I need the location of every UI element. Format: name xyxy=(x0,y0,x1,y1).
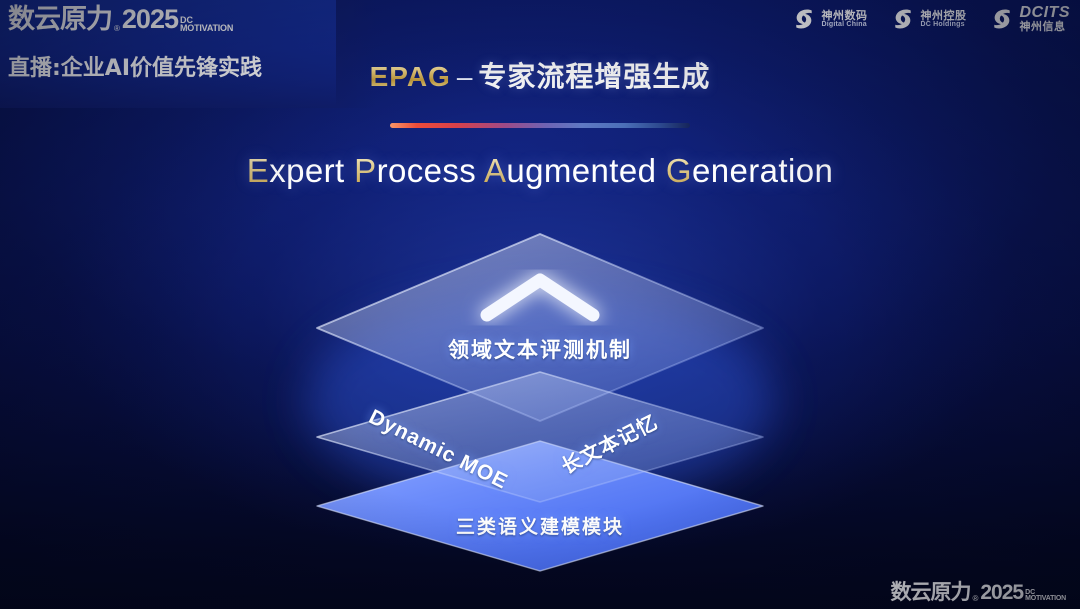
page-title-chinese: 专家流程增强生成 xyxy=(478,60,710,93)
watermark-registered: ® xyxy=(972,595,978,603)
partner-logo-digital-china: 神州数码 Digital China xyxy=(791,6,868,32)
stack-glow xyxy=(305,295,775,505)
partner-label: 神州数码 Digital China xyxy=(822,10,868,28)
brand-logo-registered: ® xyxy=(114,25,120,33)
layer-edge-label-moe: Dynamic MOE xyxy=(365,405,512,494)
layer-middle-surface xyxy=(317,372,763,502)
partner-label: 神州控股 DC Holdings xyxy=(921,10,967,28)
subtitle-word-rest: eneration xyxy=(692,152,833,189)
page-title-dash: – xyxy=(451,61,479,92)
subtitle-initial: A xyxy=(484,152,506,189)
subtitle-word-generation: Generation xyxy=(666,152,833,189)
partner-logo-dc-holdings: 神州控股 DC Holdings xyxy=(890,6,967,32)
page-subtitle: Expert Process Augmented Generation xyxy=(0,152,1080,190)
partner-logo-group: 神州数码 Digital China 神州控股 DC Holdings DCIT… xyxy=(791,5,1071,33)
subtitle-word-augmented: Augmented xyxy=(484,152,656,189)
partner-name-en: Digital China xyxy=(822,21,868,28)
layer-top xyxy=(317,234,763,421)
subtitle-word-rest: xpert xyxy=(269,152,344,189)
watermark-dc-motivation: DC MOTIVATION xyxy=(1025,590,1066,603)
partner-name-en: DCITS xyxy=(1020,5,1071,21)
layer-bottom xyxy=(317,441,763,571)
title-divider xyxy=(390,123,690,128)
subtitle-word-rest: ugmented xyxy=(506,152,656,189)
brand-logo-year: 2025 xyxy=(122,6,178,33)
brand-logo-dc-motivation: DC MOTIVATION xyxy=(180,16,233,33)
watermark-logo-cn: 数云原力 xyxy=(890,582,970,603)
layer-edge-label-memory: 长文本记忆 xyxy=(555,406,662,480)
subtitle-initial: E xyxy=(247,152,269,189)
layer-bottom-label: 三类语义建模模块 xyxy=(0,512,1080,539)
layer-bottom-surface xyxy=(317,441,763,571)
partner-name-cn: 神州信息 xyxy=(1020,21,1071,32)
subtitle-word-rest: rocess xyxy=(377,152,477,189)
partner-logo-dcits: DCITS 神州信息 xyxy=(989,5,1071,33)
swirl-icon xyxy=(890,6,916,32)
subtitle-initial: G xyxy=(666,152,692,189)
layer-top-surface xyxy=(317,234,763,421)
subtitle-initial: P xyxy=(354,152,376,189)
subtitle-word-expert: Expert xyxy=(247,152,345,189)
layer-bottom-edge xyxy=(317,441,763,571)
partner-name-en: DC Holdings xyxy=(921,21,967,28)
slide-canvas: 数云原力 ® 2025 DC MOTIVATION 直播:企业AI价值先锋实践 … xyxy=(0,0,1080,609)
watermark-year: 2025 xyxy=(980,582,1023,603)
brand-logo-motivation: MOTIVATION xyxy=(180,24,233,33)
page-title: EPAG–专家流程增强生成 xyxy=(0,55,1080,95)
layer-middle xyxy=(317,372,763,502)
footer-watermark-logo: 数云原力 ® 2025 DC MOTIVATION xyxy=(890,582,1066,603)
subtitle-word-process: Process xyxy=(354,152,476,189)
brand-logo: 数云原力 ® 2025 DC MOTIVATION xyxy=(8,6,233,33)
swirl-icon xyxy=(989,6,1015,32)
layer-top-label: 领域文本评测机制 xyxy=(0,334,1080,364)
partner-name-cn: 神州控股 xyxy=(921,10,967,21)
page-title-acronym: EPAG xyxy=(370,61,451,92)
watermark-motivation: MOTIVATION xyxy=(1025,596,1066,603)
chevron-up-icon xyxy=(487,280,593,315)
swirl-icon xyxy=(791,6,817,32)
partner-label: DCITS 神州信息 xyxy=(1020,5,1071,33)
partner-name-cn: 神州数码 xyxy=(822,10,868,21)
brand-logo-cn: 数云原力 xyxy=(8,6,112,33)
